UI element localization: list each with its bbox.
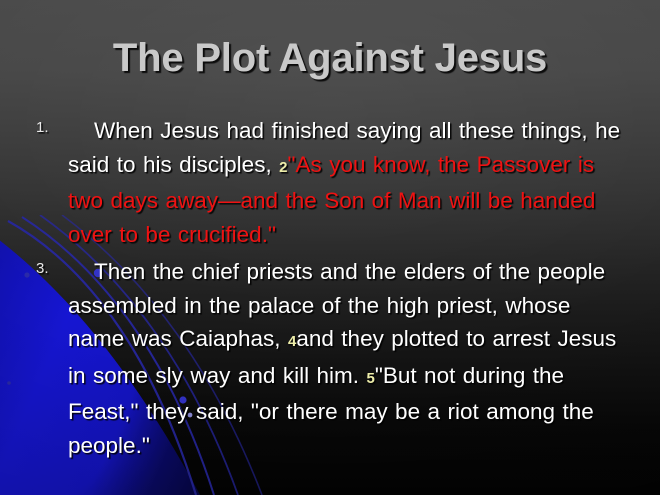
slide-title: The Plot Against Jesus bbox=[0, 36, 660, 81]
list-item: 1.When Jesus had finished saying all the… bbox=[30, 114, 630, 251]
presentation-slide: The Plot Against Jesus 1.When Jesus had … bbox=[0, 0, 660, 495]
list-marker: 3. bbox=[36, 259, 49, 279]
slide-body: 1.When Jesus had finished saying all the… bbox=[30, 114, 630, 466]
verse-number: 5 bbox=[367, 370, 375, 387]
list-marker: 1. bbox=[36, 118, 49, 138]
list-item: 3.Then the chief priests and the elders … bbox=[30, 255, 630, 462]
verse-number: 2 bbox=[279, 159, 287, 176]
